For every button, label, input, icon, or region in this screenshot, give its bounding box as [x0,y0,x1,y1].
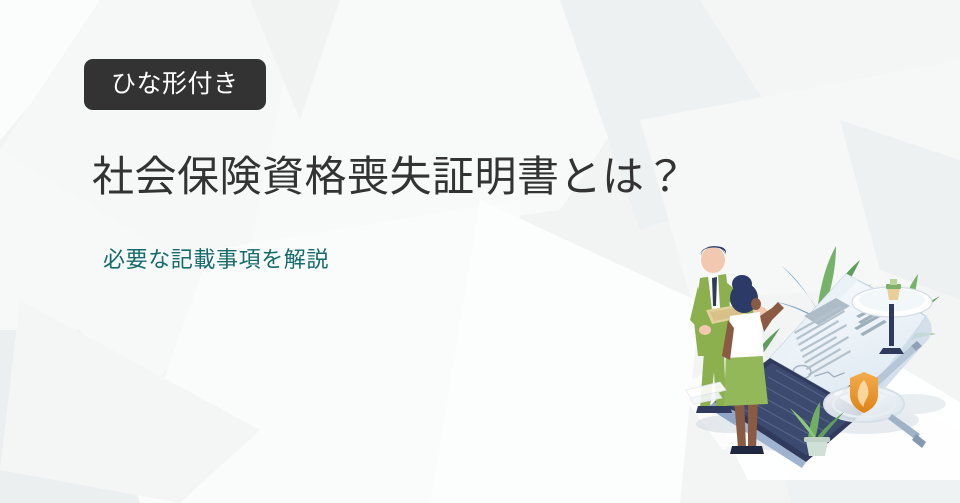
hero-illustration [668,212,960,480]
page-title: 社会保険資格喪失証明書とは？ [92,152,687,202]
badge-label: ひな形付き [111,72,239,97]
illustration-svg [668,212,960,480]
page-subtitle: 必要な記載事項を解説 [103,246,329,274]
template-included-badge: ひな形付き [84,59,266,110]
banner-canvas: ひな形付き 社会保険資格喪失証明書とは？ 必要な記載事項を解説 [0,0,960,503]
